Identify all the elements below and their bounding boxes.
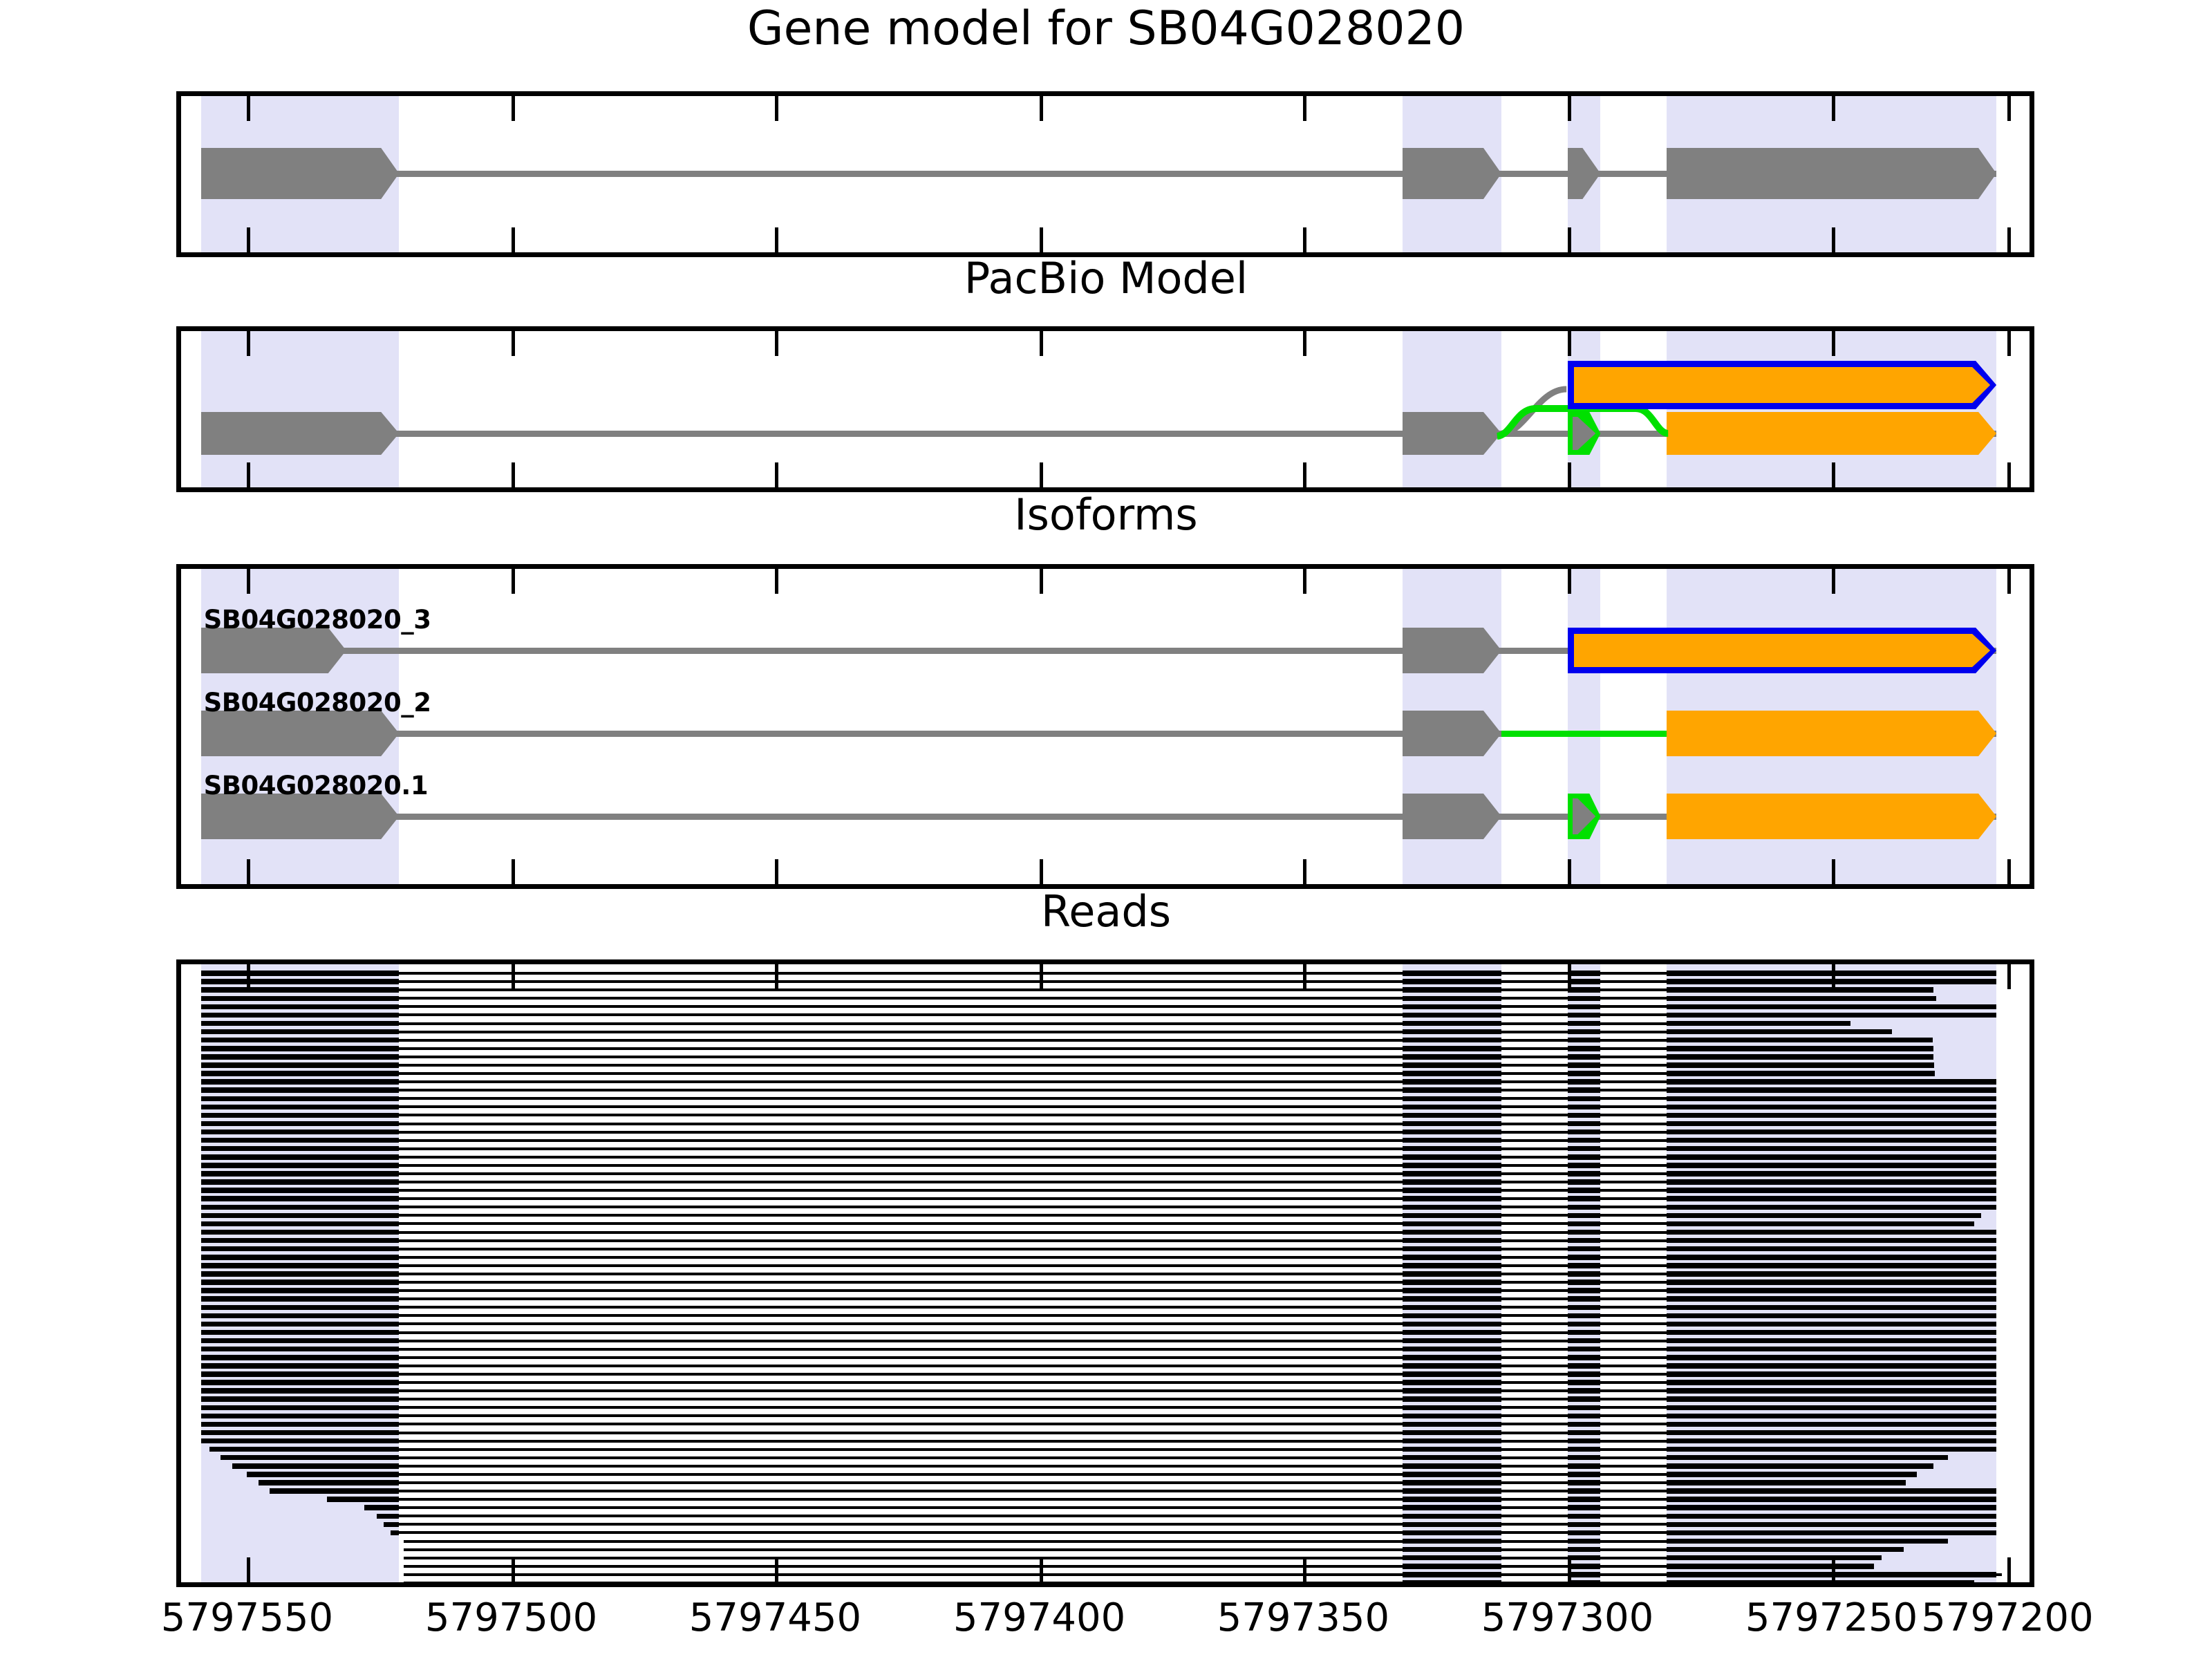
axis-tick-bottom — [247, 1557, 250, 1582]
read-exon-block — [1568, 1371, 1601, 1376]
read-exon-block — [1403, 1405, 1501, 1410]
axis-tick-top — [1040, 964, 1043, 989]
read-exon-block — [201, 1405, 400, 1410]
isoform-label: SB04G028020_2 — [204, 688, 431, 718]
read-exon-block — [1403, 1539, 1501, 1544]
axis-tick-top — [512, 96, 515, 121]
read-exon-block — [1667, 1205, 1996, 1210]
read-exon-block — [201, 1313, 400, 1318]
read-exon-block — [1403, 971, 1501, 975]
axis-tick-top — [247, 96, 250, 121]
read-exon-block — [1568, 1380, 1601, 1385]
read-exon-block — [1568, 1087, 1601, 1092]
read-exon-block — [1667, 1539, 1949, 1544]
read-exon-block — [1667, 1514, 1996, 1519]
read-exon-block — [1403, 1355, 1501, 1360]
x-axis-tick-label: 5797450 — [689, 1595, 861, 1640]
axis-tick-bottom — [2007, 227, 2011, 252]
read-exon-block — [1403, 1163, 1501, 1168]
read-exon-block — [1667, 1455, 1949, 1460]
read-exon-block — [1667, 1414, 1996, 1418]
read-exon-block — [1568, 1422, 1601, 1427]
axis-tick-top — [2007, 964, 2011, 989]
isoform-exon-orange — [1667, 711, 1996, 756]
read-exon-block — [1667, 1313, 1996, 1318]
pacbio-junction-curves — [181, 331, 2030, 487]
read-intron-line — [404, 1557, 1882, 1559]
read-exon-block — [1568, 1296, 1601, 1301]
axis-tick-top — [1832, 96, 1835, 121]
read-exon-block — [1667, 1246, 1996, 1251]
read-exon-block — [1403, 1096, 1501, 1101]
read-exon-block — [1403, 1330, 1501, 1335]
read-exon-block — [1403, 1138, 1501, 1143]
read-exon-block — [1403, 1488, 1501, 1493]
read-exon-block — [1568, 1271, 1601, 1276]
read-exon-block — [1403, 1205, 1501, 1210]
read-exon-block — [201, 1138, 400, 1143]
isoform-intron — [1600, 814, 1666, 820]
read-exon-block — [1568, 1004, 1601, 1009]
read-exon-block — [201, 1121, 400, 1126]
pacbio-exon-orange-blue-outline — [1574, 367, 1991, 403]
read-exon-block — [201, 1205, 400, 1210]
x-axis-tick-label: 5797400 — [953, 1595, 1125, 1640]
read-exon-block — [1568, 996, 1601, 1001]
panel-reads — [176, 959, 2034, 1587]
read-exon-block — [1403, 987, 1501, 992]
read-exon-block — [1667, 1280, 1996, 1284]
read-exon-block — [1403, 1480, 1501, 1485]
x-axis-tick-label: 5797250 — [1745, 1595, 1918, 1640]
gene-model-exon — [1403, 148, 1501, 199]
read-exon-block — [259, 1480, 399, 1485]
read-exon-block — [201, 1054, 400, 1059]
read-exon-block — [1403, 1230, 1501, 1235]
read-exon-block — [1667, 1530, 1996, 1535]
read-exon-block — [1568, 1505, 1601, 1510]
read-exon-block — [1403, 1255, 1501, 1259]
read-exon-block — [1667, 1046, 1933, 1051]
read-exon-block — [1403, 1305, 1501, 1310]
read-exon-block — [201, 1263, 400, 1268]
read-exon-block — [1403, 1280, 1501, 1284]
read-exon-block — [1568, 1522, 1601, 1527]
read-exon-block — [1403, 1146, 1501, 1151]
read-exon-block — [1403, 1071, 1501, 1076]
read-exon-block — [1403, 1246, 1501, 1251]
read-exon-block — [1403, 1188, 1501, 1192]
read-exon-block — [1667, 1179, 1996, 1184]
read-exon-block — [201, 1096, 400, 1101]
axis-tick-top — [2007, 96, 2011, 121]
read-exon-block — [1568, 1338, 1601, 1343]
read-exon-block — [1667, 1430, 1996, 1435]
read-exon-block — [1667, 1338, 1996, 1343]
read-exon-block — [1568, 1238, 1601, 1243]
read-exon-block — [201, 1330, 400, 1335]
read-exon-block — [1568, 1021, 1601, 1026]
read-exon-block — [1403, 1054, 1501, 1059]
isoform-intron — [346, 648, 1403, 654]
x-axis-tick-label: 5797300 — [1481, 1595, 1653, 1640]
panel-title-pacbio: PacBio Model — [0, 257, 2212, 300]
panel-pacbio-model — [176, 326, 2034, 492]
read-exon-block — [1403, 1263, 1501, 1268]
read-exon-block — [201, 1087, 400, 1092]
read-exon-block — [1568, 1046, 1601, 1051]
read-exon-block — [1667, 1171, 1996, 1176]
axis-tick-top — [1040, 569, 1043, 594]
read-exon-block — [1568, 1130, 1601, 1134]
read-exon-block — [1568, 1497, 1601, 1501]
read-exon-block — [1403, 1447, 1501, 1452]
isoform-label: SB04G028020_3 — [204, 605, 431, 635]
read-exon-block — [1403, 1430, 1501, 1435]
read-exon-block — [1403, 1530, 1501, 1535]
read-exon-block — [201, 1380, 400, 1385]
axis-tick-bottom — [512, 227, 515, 252]
read-exon-block — [1568, 1288, 1601, 1293]
read-exon-block — [1403, 1062, 1501, 1067]
read-exon-block — [1403, 1497, 1501, 1501]
read-exon-block — [1403, 1029, 1501, 1034]
read-exon-block — [1667, 1547, 1904, 1552]
read-exon-block — [1568, 1330, 1601, 1335]
read-exon-block — [201, 1422, 400, 1427]
isoforms-plot-area: SB04G028020_3SB04G028020_2SB04G028020.1 — [181, 569, 2030, 884]
read-exon-block — [1568, 1188, 1601, 1192]
axis-tick-bottom — [1303, 1557, 1306, 1582]
x-axis-tick-label: 5797350 — [1217, 1595, 1389, 1640]
read-exon-block — [1667, 1013, 1996, 1018]
read-intron-line — [201, 1022, 1850, 1025]
read-exon-block — [1403, 1547, 1501, 1552]
read-exon-block — [1667, 1029, 1892, 1034]
read-exon-block — [1568, 1572, 1601, 1577]
read-exon-block — [1667, 1555, 1882, 1560]
read-exon-block — [1667, 979, 1996, 984]
axis-tick-bottom — [1568, 227, 1571, 252]
isoform-intron — [399, 731, 1402, 737]
read-exon-block — [1568, 1054, 1601, 1059]
read-exon-block — [1667, 1422, 1996, 1427]
isoform-label: SB04G028020.1 — [204, 771, 428, 800]
axis-tick-top — [1568, 569, 1571, 594]
read-exon-block — [1667, 1230, 1996, 1235]
read-exon-block — [221, 1455, 399, 1460]
read-exon-block — [1403, 1004, 1501, 1009]
read-exon-block — [201, 1188, 400, 1192]
read-exon-block — [1667, 1221, 1974, 1226]
read-exon-block — [1568, 1539, 1601, 1544]
read-exon-block — [1667, 1296, 1996, 1301]
read-exon-block — [1403, 1438, 1501, 1443]
panel-title-reads: Reads — [0, 890, 2212, 933]
read-exon-block — [1403, 1179, 1501, 1184]
axis-tick-top — [775, 964, 778, 989]
read-exon-block — [1667, 1121, 1996, 1126]
read-exon-block — [1568, 1113, 1601, 1118]
read-exon-block — [1403, 1013, 1501, 1018]
read-exon-block — [1667, 1472, 1917, 1477]
axis-tick-top — [512, 964, 515, 989]
read-exon-block — [1568, 1121, 1601, 1126]
read-exon-block — [1403, 1338, 1501, 1343]
read-exon-block — [1568, 1280, 1601, 1284]
read-exon-block — [1568, 1255, 1601, 1259]
read-exon-block — [1403, 1271, 1501, 1276]
read-exon-block — [201, 1021, 400, 1026]
read-exon-block — [1667, 1497, 1996, 1501]
read-exon-block — [232, 1463, 400, 1468]
read-exon-block — [1667, 1463, 1933, 1468]
read-exon-block — [201, 1038, 400, 1042]
read-exon-block — [1403, 1113, 1501, 1118]
read-exon-block — [1568, 1472, 1601, 1477]
isoform-exon-grey — [1403, 628, 1501, 673]
axis-tick-bottom — [1568, 1557, 1571, 1582]
read-exon-block — [1667, 1196, 1996, 1201]
read-exon-block — [1568, 1447, 1601, 1452]
read-exon-block — [201, 1388, 400, 1393]
read-exon-block — [1568, 1463, 1601, 1468]
isoform-exon-grey — [1403, 711, 1501, 756]
axis-tick-bottom — [1040, 859, 1043, 884]
read-exon-block — [1568, 1438, 1601, 1443]
read-exon-block — [201, 1062, 400, 1067]
read-exon-block — [201, 1105, 400, 1109]
axis-tick-bottom — [2007, 1557, 2011, 1582]
read-exon-block — [1667, 1213, 1982, 1218]
axis-tick-top — [775, 569, 778, 594]
axis-tick-bottom — [1303, 227, 1306, 252]
axis-tick-top — [1568, 96, 1571, 121]
read-exon-block — [1667, 1038, 1933, 1042]
axis-tick-bottom — [1568, 859, 1571, 884]
read-exon-block — [1403, 1388, 1501, 1393]
read-exon-block — [1568, 1388, 1601, 1393]
read-exon-block — [1568, 1246, 1601, 1251]
read-exon-block — [201, 1338, 400, 1343]
read-exon-block — [1403, 1380, 1501, 1385]
read-exon-block — [201, 1271, 400, 1276]
axis-tick-top — [247, 964, 250, 989]
read-exon-block — [1403, 1079, 1501, 1084]
panel-gene-model — [176, 91, 2034, 257]
x-axis-tick-label: 5797550 — [161, 1595, 333, 1640]
read-exon-block — [384, 1522, 399, 1527]
read-exon-block — [1568, 1205, 1601, 1210]
read-exon-block — [1403, 1505, 1501, 1510]
read-exon-block — [1403, 1514, 1501, 1519]
axis-tick-bottom — [247, 227, 250, 252]
read-exon-block — [1667, 1305, 1996, 1310]
axis-tick-bottom — [1040, 1557, 1043, 1582]
read-exon-block — [1403, 1371, 1501, 1376]
read-exon-block — [201, 1113, 400, 1118]
read-exon-block — [1667, 1363, 1996, 1368]
read-exon-block — [1568, 1196, 1601, 1201]
read-exon-block — [1568, 1430, 1601, 1435]
isoform-intron — [1501, 731, 1667, 737]
read-exon-block — [201, 1396, 400, 1401]
read-exon-block — [1667, 1163, 1996, 1168]
read-exon-block — [1403, 1422, 1501, 1427]
axis-tick-bottom — [1832, 227, 1835, 252]
read-exon-block — [377, 1514, 399, 1519]
read-exon-block — [201, 1246, 400, 1251]
isoform-exon-orange — [1667, 794, 1996, 839]
read-intron-line — [404, 1565, 1874, 1568]
read-exon-block — [201, 1238, 400, 1243]
pacbio-plot-area — [181, 331, 2030, 487]
read-exon-block — [1403, 1322, 1501, 1327]
read-exon-block — [1568, 1355, 1601, 1360]
read-exon-block — [1568, 1146, 1601, 1151]
read-exon-block — [1667, 1396, 1996, 1401]
read-exon-block — [1667, 1480, 1906, 1485]
axis-tick-bottom — [775, 859, 778, 884]
read-exon-block — [201, 1029, 400, 1034]
read-exon-block — [201, 1363, 400, 1368]
read-exon-block — [201, 1013, 400, 1018]
read-exon-block — [1568, 1230, 1601, 1235]
read-exon-block — [1403, 1347, 1501, 1351]
axis-tick-bottom — [1040, 227, 1043, 252]
read-intron-line — [259, 1481, 1906, 1484]
axis-tick-top — [1303, 964, 1306, 989]
read-exon-block — [1667, 971, 1996, 975]
read-exon-block — [1667, 1572, 1996, 1577]
read-exon-block — [1403, 1414, 1501, 1418]
read-exon-block — [201, 1163, 400, 1168]
read-exon-block — [201, 1430, 400, 1435]
axis-tick-bottom — [1832, 1557, 1835, 1582]
axis-tick-top — [512, 569, 515, 594]
read-exon-block — [1403, 1522, 1501, 1527]
read-exon-block — [201, 987, 400, 992]
read-exon-block — [201, 1171, 400, 1176]
read-exon-block — [1667, 1355, 1996, 1360]
read-intron-line — [201, 1031, 1892, 1033]
read-exon-block — [1403, 1105, 1501, 1109]
panel-isoforms: SB04G028020_3SB04G028020_2SB04G028020.1 — [176, 564, 2034, 889]
read-exon-block — [201, 1230, 400, 1235]
read-exon-block — [1667, 1347, 1996, 1351]
read-exon-block — [1403, 1238, 1501, 1243]
read-exon-block — [1667, 1380, 1996, 1385]
panel-title-isoforms: Isoforms — [0, 494, 2212, 536]
read-exon-block — [1568, 971, 1601, 975]
read-exon-block — [1667, 1405, 1996, 1410]
axis-tick-top — [1832, 569, 1835, 594]
read-exon-block — [1667, 1087, 1996, 1092]
read-exon-block — [1568, 1163, 1601, 1168]
axis-tick-top — [1303, 569, 1306, 594]
read-exon-block — [1667, 1021, 1850, 1026]
read-exon-block — [201, 1221, 400, 1226]
axis-tick-bottom — [247, 859, 250, 884]
read-exon-block — [1403, 1396, 1501, 1401]
read-exon-block — [1403, 1121, 1501, 1126]
read-exon-block — [1568, 1179, 1601, 1184]
read-exon-block — [1667, 1062, 1934, 1067]
read-exon-block — [1667, 1322, 1996, 1327]
read-exon-block — [1568, 1305, 1601, 1310]
read-exon-block — [1403, 1580, 1501, 1585]
axis-tick-bottom — [512, 859, 515, 884]
read-exon-block — [1667, 1263, 1996, 1268]
read-exon-block — [201, 1414, 400, 1418]
read-exon-block — [1403, 1087, 1501, 1092]
read-exon-block — [201, 971, 400, 975]
read-exon-block — [201, 1255, 400, 1259]
read-exon-block — [201, 1079, 400, 1084]
axis-tick-top — [1303, 96, 1306, 121]
read-exon-block — [1568, 1171, 1601, 1176]
read-exon-block — [1667, 1071, 1935, 1076]
axis-tick-top — [1040, 96, 1043, 121]
read-exon-block — [1568, 1213, 1601, 1218]
read-exon-block — [1403, 996, 1501, 1001]
axis-tick-top — [2007, 569, 2011, 594]
read-exon-block — [1403, 1046, 1501, 1051]
read-exon-block — [1667, 1154, 1996, 1159]
read-exon-block — [1667, 1146, 1996, 1151]
read-exon-block — [201, 1296, 400, 1301]
read-exon-block — [1403, 1455, 1501, 1460]
figure-root: Gene model for SB04G028020 PacBio Model … — [0, 0, 2212, 1659]
read-exon-block — [1568, 1555, 1601, 1560]
read-exon-block — [1403, 1213, 1501, 1218]
read-exon-block — [201, 1071, 400, 1076]
read-exon-block — [201, 979, 400, 984]
axis-tick-bottom — [512, 1557, 515, 1582]
read-exon-block — [1667, 1564, 1875, 1568]
read-exon-block — [1568, 1347, 1601, 1351]
read-exon-block — [1568, 1564, 1601, 1568]
read-exon-block — [201, 1347, 400, 1351]
read-exon-block — [1403, 1288, 1501, 1293]
read-exon-block — [1403, 1021, 1501, 1026]
read-exon-block — [1568, 987, 1601, 992]
read-exon-block — [201, 1355, 400, 1360]
gene-model-exon — [1667, 148, 1996, 199]
read-exon-block — [327, 1497, 399, 1501]
read-exon-block — [201, 1196, 400, 1201]
isoform-intron — [399, 814, 1402, 820]
isoform-exon-grey — [1403, 794, 1501, 839]
read-exon-block — [1667, 1580, 1974, 1585]
read-exon-block — [201, 1179, 400, 1184]
read-exon-block — [1667, 1330, 1996, 1335]
read-exon-block — [201, 1146, 400, 1151]
read-exon-block — [201, 1438, 400, 1443]
read-exon-block — [1568, 1396, 1601, 1401]
read-exon-block — [1568, 1313, 1601, 1318]
read-exon-block — [1667, 1054, 1934, 1059]
gene-model-plot-area — [181, 96, 2030, 252]
read-exon-block — [201, 1004, 400, 1009]
read-exon-block — [1667, 1271, 1996, 1276]
read-exon-block — [391, 1530, 399, 1535]
read-exon-block — [1667, 1079, 1996, 1084]
read-exon-block — [1568, 1530, 1601, 1535]
read-exon-block — [201, 1371, 400, 1376]
read-exon-block — [364, 1505, 400, 1510]
axis-tick-top — [775, 96, 778, 121]
